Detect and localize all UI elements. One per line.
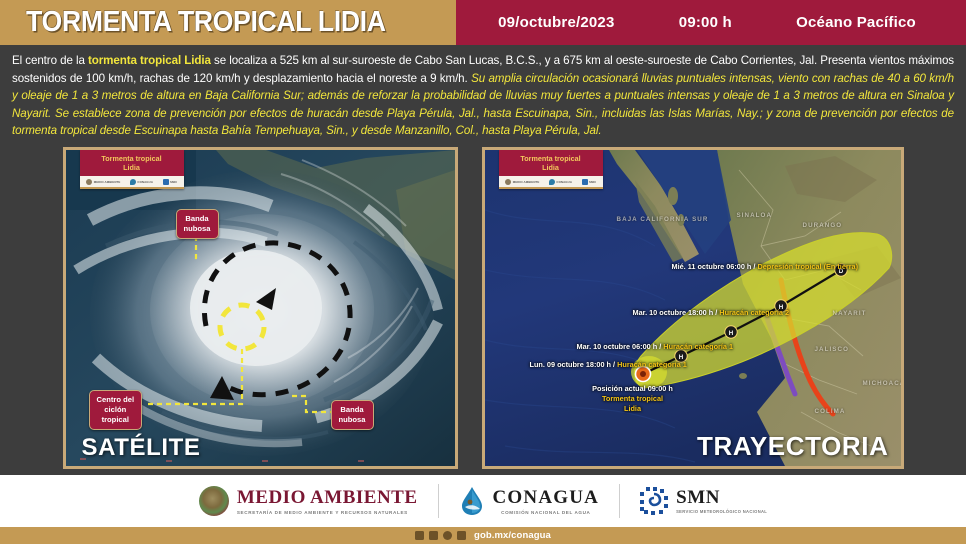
- bulletin-time: 09:00 h: [679, 14, 732, 31]
- badge-logo-row-tra: MEDIO AMBIENTE CONAGUA SMN: [499, 176, 603, 187]
- forecast-1-time: Mar. 10 octubre 18:00 h /: [633, 308, 720, 317]
- eagle-seal-icon: [86, 179, 92, 185]
- badge-logo-label-0: MEDIO AMBIENTE: [94, 180, 121, 184]
- badge-title-line1: Tormenta tropical: [82, 154, 182, 163]
- trajectory-panel[interactable]: H H H D Tormenta tropical Lidia MEDIO: [482, 147, 904, 469]
- badge-logo-tra-label-2: SMN: [589, 180, 596, 184]
- callout-2-line2: nubosa: [339, 415, 366, 425]
- badge-logo-label-2: SMN: [170, 180, 177, 184]
- forecast-3-category: Huracán categoría 1: [617, 360, 687, 369]
- satellite-caption: SATÉLITE: [82, 434, 201, 462]
- satellite-map-badge: Tormenta tropical Lidia MEDIO AMBIENTE C…: [80, 150, 184, 189]
- brand-2-name: SMN: [676, 488, 767, 507]
- satellite-panel[interactable]: Tormenta tropical Lidia MEDIO AMBIENTE C…: [63, 147, 458, 469]
- badge-title-line2: Lidia: [82, 163, 182, 172]
- badge-logo-conagua: CONAGUA: [130, 179, 153, 185]
- brand-medio-ambiente: MEDIO AMBIENTE SECRETARÍA DE MEDIO AMBIE…: [199, 486, 418, 516]
- callout-2-line1: Banda: [339, 405, 366, 415]
- brand-0-sub: SECRETARÍA DE MEDIO AMBIENTE Y RECURSOS …: [237, 510, 418, 515]
- bulletin-date: 09/octubre/2023: [498, 14, 614, 31]
- callout-1-line2: ciclón: [97, 405, 135, 415]
- badge-title-tra-line1: Tormenta tropical: [501, 154, 601, 163]
- map-panels: Tormenta tropical Lidia MEDIO AMBIENTE C…: [0, 144, 966, 469]
- badge-logo-tra-label-1: CONAGUA: [556, 180, 572, 184]
- forecast-0-time: Mié. 11 octubre 06:00 h /: [672, 262, 758, 271]
- mexico-eagle-seal-icon: [199, 486, 229, 516]
- facebook-icon[interactable]: [415, 531, 424, 540]
- footer-divider-1: [438, 484, 439, 518]
- page-footer: MEDIO AMBIENTE SECRETARÍA DE MEDIO AMBIE…: [0, 475, 966, 544]
- brand-medio-ambiente-text: MEDIO AMBIENTE SECRETARÍA DE MEDIO AMBIE…: [237, 488, 418, 515]
- state-label-durango: DURANGO: [803, 222, 843, 229]
- header-title-bar: TORMENTA TROPICAL LIDIA: [0, 0, 456, 45]
- brand-conagua-text: CONAGUA COMISIÓN NACIONAL DEL AGUA: [493, 488, 600, 515]
- state-label-sinaloa: SINALOA: [737, 212, 773, 219]
- state-label-jalisco: JALISCO: [815, 346, 850, 353]
- badge-title-tra-line2: Lidia: [501, 163, 601, 172]
- callout-banda-nubosa-norte: Banda nubosa: [176, 209, 219, 239]
- current-position-line1: Posición actual 09:00 h: [563, 384, 703, 394]
- smn-spiral-icon: [640, 487, 668, 515]
- forecast-label-huracan-cat1-lun09: Lun. 09 octubre 18:00 h / Huracán catego…: [530, 360, 687, 369]
- badge-title: Tormenta tropical Lidia: [80, 150, 184, 176]
- badge-logo-smn: SMN: [163, 179, 177, 185]
- badge-gold-strip: [80, 187, 184, 189]
- youtube-icon[interactable]: [457, 531, 466, 540]
- badge-logo-medio-ambiente: MEDIO AMBIENTE: [86, 179, 120, 185]
- storm-name-highlight: tormenta tropical Lidia: [88, 54, 211, 67]
- brand-smn: SMN SERVICIO METEOROLÓGICO NACIONAL: [640, 487, 767, 515]
- callout-0-line1: Banda: [184, 214, 211, 224]
- badge-logo-row: MEDIO AMBIENTE CONAGUA SMN: [80, 176, 184, 187]
- linkedin-icon[interactable]: [429, 531, 438, 540]
- forecast-label-huracan-cat1-mar10: Mar. 10 octubre 06:00 h / Huracán catego…: [577, 342, 734, 351]
- current-position-line3: Lidia: [563, 404, 703, 414]
- brand-2-sub: SERVICIO METEOROLÓGICO NACIONAL: [676, 509, 767, 515]
- header-meta-bar: 09/octubre/2023 09:00 h Océano Pacífico: [456, 0, 966, 45]
- forecast-label-huracan-cat2: Mar. 10 octubre 18:00 h / Huracán catego…: [633, 308, 790, 317]
- current-position-label: Posición actual 09:00 h Tormenta tropica…: [563, 384, 703, 414]
- water-drop-icon: [130, 179, 136, 185]
- footer-logo-bar: MEDIO AMBIENTE SECRETARÍA DE MEDIO AMBIE…: [0, 475, 966, 527]
- state-label-colima: COLIMA: [815, 408, 846, 415]
- badge-gold-strip-tra: [499, 187, 603, 189]
- conagua-water-drop-icon: [459, 486, 485, 516]
- bulletin-basin: Océano Pacífico: [796, 14, 916, 31]
- instagram-icon[interactable]: [443, 531, 452, 540]
- page-header: TORMENTA TROPICAL LIDIA 09/octubre/2023 …: [0, 0, 966, 45]
- badge-logo-tra-label-0: MEDIO AMBIENTE: [513, 180, 540, 184]
- badge-title-tra: Tormenta tropical Lidia: [499, 150, 603, 176]
- svg-text:H: H: [728, 330, 733, 337]
- callout-1-line1: Centro del: [97, 395, 135, 405]
- state-label-michoacan: MICHOACÁN: [863, 380, 904, 387]
- bulletin-seg1: El centro de la: [12, 54, 88, 67]
- callout-0-line2: nubosa: [184, 224, 211, 234]
- brand-conagua: CONAGUA COMISIÓN NACIONAL DEL AGUA: [459, 486, 600, 516]
- state-label-baja-california-sur: BAJA CALIFORNIA SUR: [617, 216, 709, 223]
- forecast-2-category: Huracán categoría 1: [663, 342, 733, 351]
- smn-spiral-icon: [163, 179, 169, 185]
- callout-centro-ciclon-tropical: Centro del ciclón tropical: [89, 390, 143, 430]
- badge-logo-medio-ambiente-tra: MEDIO AMBIENTE: [505, 179, 539, 185]
- trajectory-caption: TRAYECTORIA: [697, 431, 889, 462]
- footer-url[interactable]: gob.mx/conagua: [474, 530, 551, 541]
- trajectory-map-badge: Tormenta tropical Lidia MEDIO AMBIENTE C…: [499, 150, 603, 189]
- callout-1-line3: tropical: [97, 415, 135, 425]
- current-position-line2: Tormenta tropical: [563, 394, 703, 404]
- forecast-2-time: Mar. 10 octubre 06:00 h /: [577, 342, 664, 351]
- forecast-1-category: Huracán categoría 2: [719, 308, 789, 317]
- footer-divider-2: [619, 484, 620, 518]
- brand-smn-text: SMN SERVICIO METEOROLÓGICO NACIONAL: [676, 488, 767, 515]
- badge-logo-smn-tra: SMN: [582, 179, 596, 185]
- callout-banda-nubosa-sur: Banda nubosa: [331, 400, 374, 430]
- smn-spiral-icon: [582, 179, 588, 185]
- brand-1-sub: COMISIÓN NACIONAL DEL AGUA: [493, 510, 600, 515]
- badge-logo-label-1: CONAGUA: [137, 180, 153, 184]
- page-title: TORMENTA TROPICAL LIDIA: [26, 6, 386, 39]
- badge-logo-conagua-tra: CONAGUA: [549, 179, 572, 185]
- water-drop-icon: [549, 179, 555, 185]
- forecast-3-time: Lun. 09 octubre 18:00 h /: [530, 360, 618, 369]
- bulletin-text: El centro de la tormenta tropical Lidia …: [0, 45, 966, 144]
- forecast-label-depresion-tropical: Mié. 11 octubre 06:00 h / Depresión trop…: [672, 262, 859, 271]
- brand-0-name: MEDIO AMBIENTE: [237, 488, 418, 507]
- state-label-nayarit: NAYARIT: [833, 310, 867, 317]
- footer-url-bar: gob.mx/conagua: [0, 527, 966, 544]
- eagle-seal-icon: [505, 179, 511, 185]
- brand-1-name: CONAGUA: [493, 488, 600, 507]
- forecast-0-category: Depresión tropical (En tierra): [757, 262, 858, 271]
